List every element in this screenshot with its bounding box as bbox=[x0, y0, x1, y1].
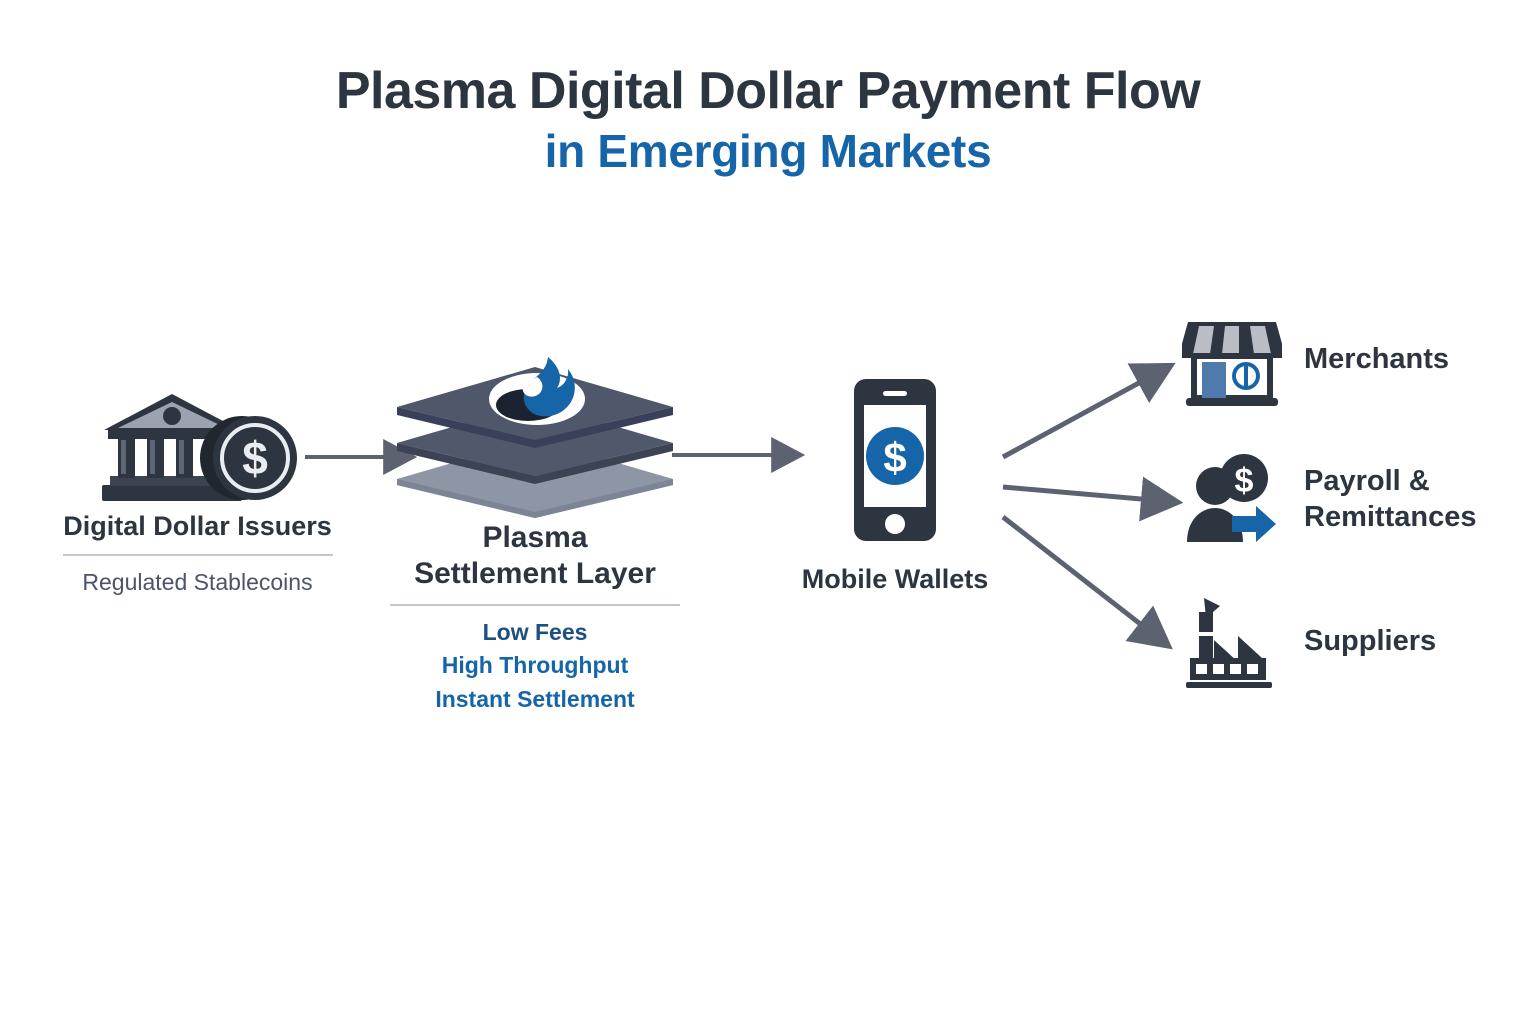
node-plasma-settlement-layer[interactable]: Plasma Settlement Layer Low Fees High Th… bbox=[370, 355, 700, 716]
node-digital-dollar-issuers[interactable]: $ Digital Dollar Issuers Regulated Stabl… bbox=[35, 390, 360, 600]
endpoint-label-payroll-remittances: Payroll & Remittances bbox=[1304, 464, 1476, 536]
node-label-plasma-line2: Settlement Layer bbox=[370, 556, 700, 592]
endpoint-suppliers[interactable]: Suppliers bbox=[1182, 592, 1436, 692]
endpoint-merchants[interactable]: Merchants bbox=[1182, 310, 1449, 410]
title-line-primary: Plasma Digital Dollar Payment Flow bbox=[0, 62, 1536, 120]
connector-wallets-to-payroll bbox=[1003, 487, 1152, 500]
svg-text:$: $ bbox=[242, 432, 268, 484]
diagram-canvas: Plasma Digital Dollar Payment Flow in Em… bbox=[0, 0, 1536, 1024]
svg-text:$: $ bbox=[1235, 462, 1254, 500]
node-mobile-wallets[interactable]: $ Mobile Wallets bbox=[765, 375, 1025, 595]
storefront-icon bbox=[1182, 310, 1282, 410]
node-subtitle-regulated-stablecoins: Regulated Stablecoins bbox=[35, 566, 360, 599]
node-divider-issuers bbox=[63, 554, 333, 556]
node-subtitle-low-fees: Low Fees bbox=[370, 616, 700, 649]
svg-text:$: $ bbox=[883, 434, 906, 481]
node-label-mobile-wallets: Mobile Wallets bbox=[765, 563, 1025, 595]
endpoint-label-suppliers: Suppliers bbox=[1304, 624, 1436, 660]
stacked-layers-with-flame-icon bbox=[385, 355, 685, 520]
node-label-plasma: Plasma Settlement Layer bbox=[370, 520, 700, 592]
node-label-plasma-line1: Plasma bbox=[370, 520, 700, 556]
node-subtitle-instant-settlement: Instant Settlement bbox=[370, 683, 700, 716]
factory-icon bbox=[1182, 592, 1282, 692]
endpoint-label-merchants: Merchants bbox=[1304, 342, 1449, 378]
endpoint-payroll-remittances[interactable]: $ Payroll & Remittances bbox=[1182, 450, 1476, 550]
bank-with-dollar-coin-icon: $ bbox=[90, 390, 305, 510]
node-label-issuers: Digital Dollar Issuers bbox=[35, 510, 360, 542]
node-subtitle-high-throughput: High Throughput bbox=[370, 649, 700, 682]
mobile-phone-dollar-icon: $ bbox=[840, 375, 950, 545]
node-divider-plasma bbox=[390, 604, 680, 606]
person-money-transfer-icon: $ bbox=[1182, 450, 1282, 550]
page-title: Plasma Digital Dollar Payment Flow in Em… bbox=[0, 62, 1536, 179]
title-line-secondary: in Emerging Markets bbox=[0, 124, 1536, 179]
